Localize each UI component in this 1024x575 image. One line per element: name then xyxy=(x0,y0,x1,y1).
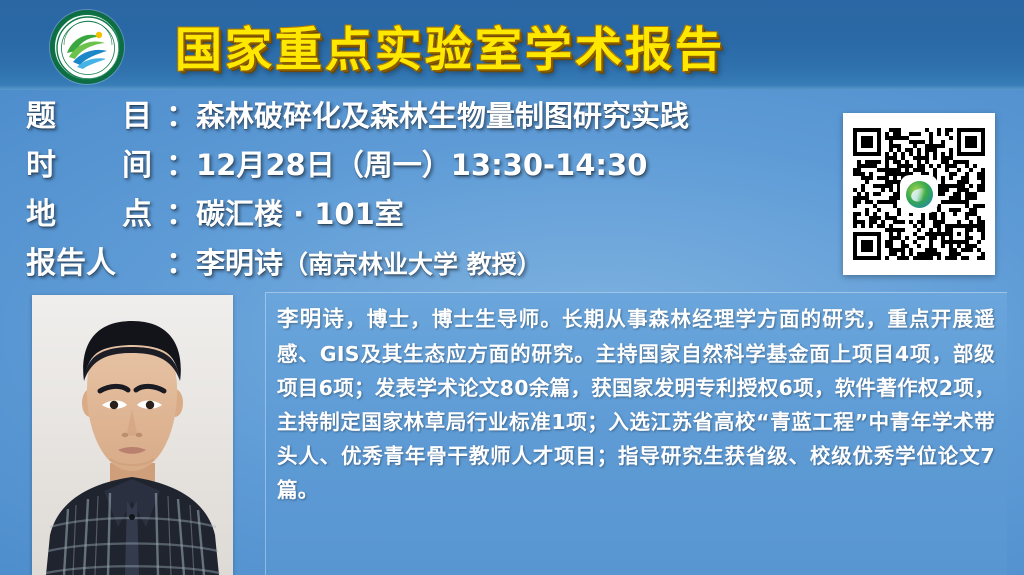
info-label-speaker: 报告人 xyxy=(26,240,166,288)
info-value-time: 12月28日（周一）13:30-14:30 xyxy=(196,141,647,189)
header-band: 国家重点实验室学术报告 xyxy=(0,0,1024,90)
qr-center-logo-dot xyxy=(906,181,933,208)
info-speaker-affiliation: （南京林业大学 教授） xyxy=(283,241,542,289)
info-row-location: 地 点 ： 碳汇楼 · 101室 xyxy=(26,190,826,239)
speaker-bio-name: 李明诗 xyxy=(277,307,345,332)
speaker-photo xyxy=(32,295,233,575)
seminar-poster: 国家重点实验室学术报告 题 目 ： 森林破碎化及森林生物量制图研究实践 时 间 … xyxy=(0,0,1024,575)
info-label-topic: 题 目 xyxy=(26,93,166,141)
info-value-location: 碳汇楼 · 101室 xyxy=(196,190,404,238)
info-label-location: 地 点 xyxy=(26,191,166,239)
state-key-lab-logo-icon xyxy=(50,10,124,84)
info-row-time: 时 间 ： 12月28日（周一）13:30-14:30 xyxy=(26,141,826,190)
info-row-topic: 题 目 ： 森林破碎化及森林生物量制图研究实践 xyxy=(26,92,826,141)
info-value-speaker: 李明诗 xyxy=(196,239,283,287)
info-label-time: 时 间 xyxy=(26,142,166,190)
info-colon-time: ： xyxy=(166,142,196,190)
seminar-info-block: 题 目 ： 森林破碎化及森林生物量制图研究实践 时 间 ： 12月28日（周一）… xyxy=(26,92,826,289)
info-colon-topic: ： xyxy=(166,93,196,141)
qr-code-inner xyxy=(853,128,985,260)
qr-code-card[interactable] xyxy=(843,113,995,275)
speaker-bio-panel: 李明诗，博士，博士生导师。长期从事森林经理学方面的研究，重点开展遥感、GIS及其… xyxy=(265,292,1007,575)
info-colon-location: ： xyxy=(166,191,196,239)
speaker-bio-text: 李明诗，博士，博士生导师。长期从事森林经理学方面的研究，重点开展遥感、GIS及其… xyxy=(277,302,995,507)
info-row-speaker: 报告人 ： 李明诗 （南京林业大学 教授） xyxy=(26,239,826,289)
poster-title: 国家重点实验室学术报告 xyxy=(175,8,875,82)
qr-center-logo-icon xyxy=(902,177,936,211)
info-colon-speaker: ： xyxy=(166,240,196,288)
speaker-bio-body: ，博士，博士生导师。长期从事森林经理学方面的研究，重点开展遥感、GIS及其生态应… xyxy=(277,307,995,502)
logo-ring xyxy=(54,14,120,80)
info-value-topic: 森林破碎化及森林生物量制图研究实践 xyxy=(196,92,689,140)
